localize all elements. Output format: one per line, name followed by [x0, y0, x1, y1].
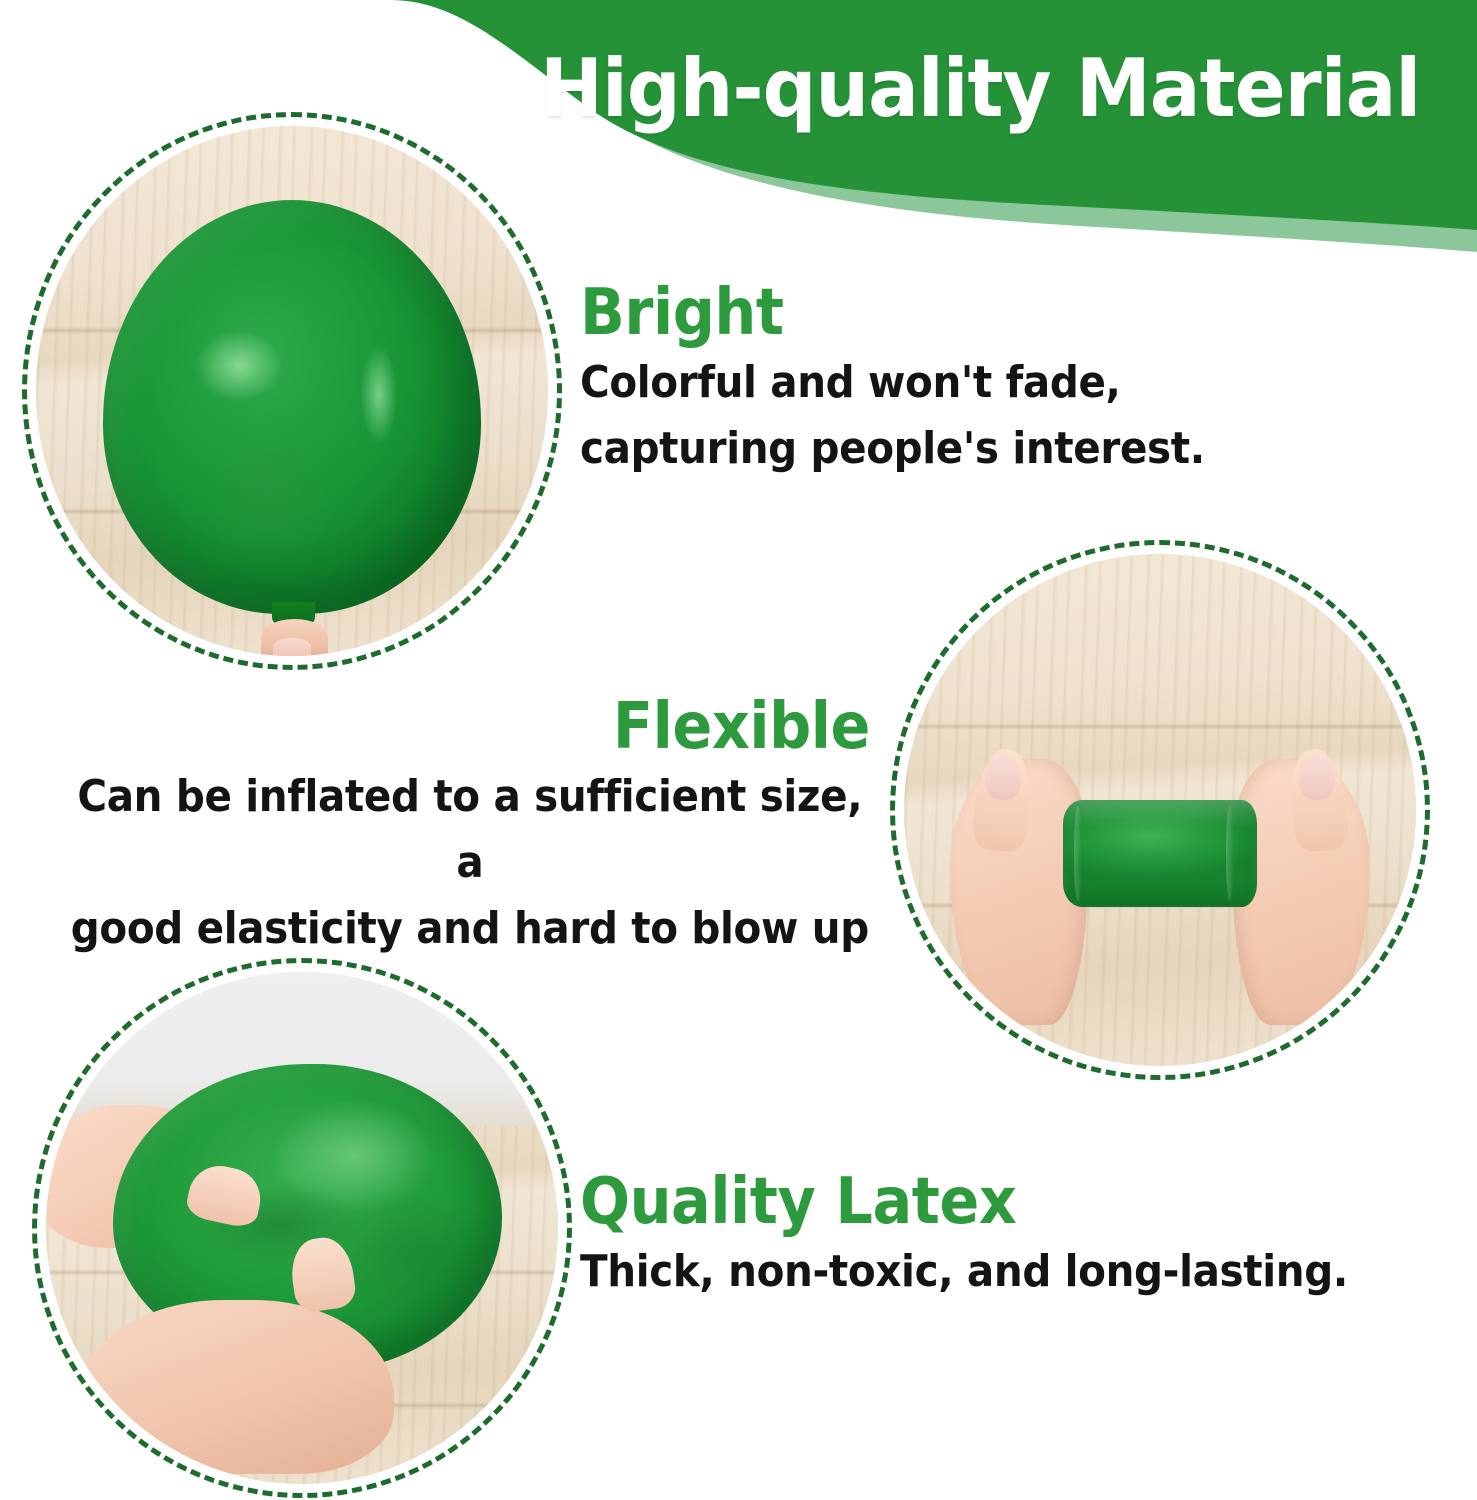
feature-description-flexible-line-1: Can be inflated to a sufficient size, a — [70, 764, 870, 896]
left-thumb-nail — [985, 756, 1021, 800]
feature-description-flexible-line-2: good elasticity and hard to blow up — [70, 896, 870, 962]
feature-photo-quality — [32, 958, 572, 1498]
page-title: High-quality Material — [540, 30, 1428, 150]
banner-shape — [390, 0, 1477, 230]
feature-photo-bright — [22, 112, 562, 670]
feature-title-bright: Bright — [580, 276, 1371, 350]
photo-hands-stretching-latex-strip — [904, 554, 1416, 1066]
feature-photo-flexible — [890, 540, 1430, 1080]
latex-fold — [1226, 806, 1234, 901]
latex-fold — [1074, 806, 1082, 901]
photo-hands-squeezing-balloon — [46, 972, 558, 1484]
right-thumb-nail — [1299, 756, 1335, 800]
feature-description-bright-line-1: Colorful and won't fade, — [580, 350, 1371, 416]
lower-hand — [77, 1300, 394, 1474]
feature-title-flexible: Flexible — [70, 690, 870, 764]
wood-grain-seam — [904, 723, 1416, 730]
banner-edge-shape — [404, 0, 1477, 252]
feature-title-quality: Quality Latex — [580, 1165, 1380, 1239]
thumbnail-nail — [273, 638, 311, 656]
feature-text-quality: Quality Latex Thick, non-toxic, and long… — [580, 1165, 1450, 1305]
product-feature-infographic: High-quality Material Bright Colorful an… — [0, 0, 1477, 1500]
feature-text-flexible: Flexible Can be inflated to a sufficient… — [0, 690, 870, 962]
feature-text-bright: Bright Colorful and won't fade, capturin… — [580, 276, 1440, 482]
photo-inflated-green-balloon-on-wood — [36, 126, 548, 656]
feature-description-bright-line-2: capturing people's interest. — [580, 416, 1371, 482]
feature-description-quality-line-1: Thick, non-toxic, and long-lasting. — [580, 1239, 1380, 1305]
stretched-latex-strip — [1063, 800, 1258, 908]
